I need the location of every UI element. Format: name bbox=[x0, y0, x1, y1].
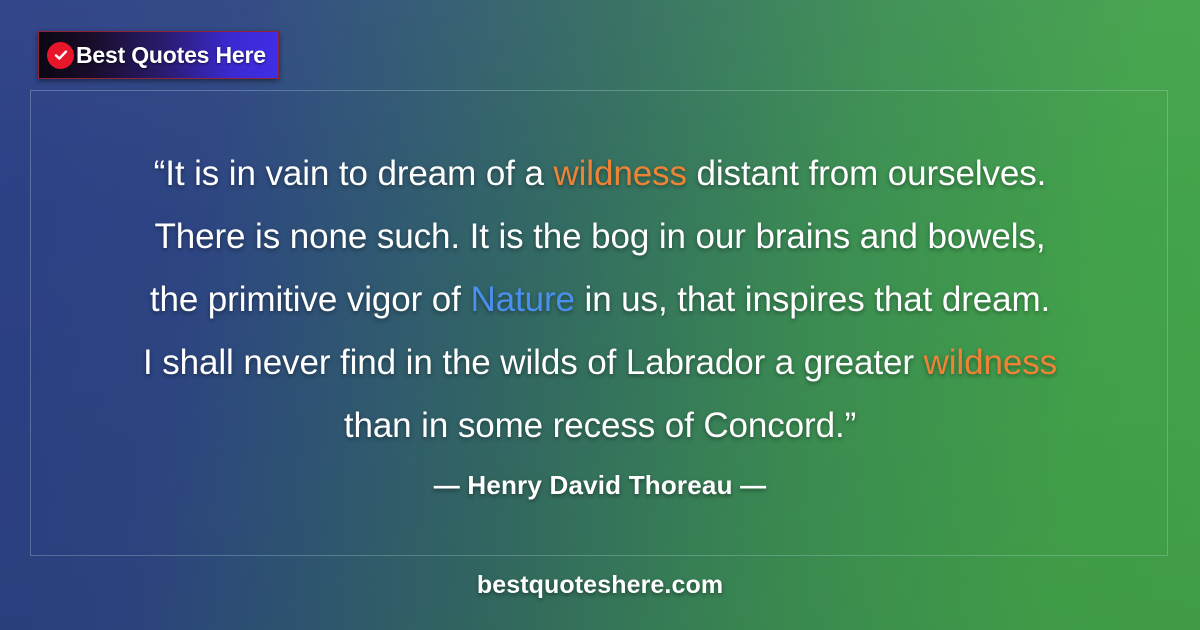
quote-line: the primitive vigor of Nature in us, tha… bbox=[0, 268, 1200, 331]
quote-highlight-wildness: wildness bbox=[553, 154, 686, 193]
quote-attribution: — Henry David Thoreau — bbox=[0, 470, 1200, 501]
quote-segment: “It is in vain to dream of a bbox=[154, 154, 554, 193]
quote-line: There is none such. It is the bog in our… bbox=[0, 205, 1200, 268]
quote-highlight-nature: Nature bbox=[470, 280, 574, 319]
quote-line: “It is in vain to dream of a wildness di… bbox=[0, 142, 1200, 205]
quote-segment: There is none such. It is the bog in our… bbox=[154, 217, 1045, 256]
brand-badge-label: Best Quotes Here bbox=[76, 42, 266, 69]
quote-card: Best Quotes Here “It is in vain to dream… bbox=[0, 0, 1200, 630]
quote-segment: I shall never find in the wilds of Labra… bbox=[143, 343, 924, 382]
quote-segment: distant from ourselves. bbox=[687, 154, 1046, 193]
quote-segment: in us, that inspires that dream. bbox=[575, 280, 1050, 319]
quote-line: than in some recess of Concord.” bbox=[0, 394, 1200, 457]
quote-segment: the primitive vigor of bbox=[150, 280, 471, 319]
quote-text: “It is in vain to dream of a wildness di… bbox=[0, 142, 1200, 457]
quote-line: I shall never find in the wilds of Labra… bbox=[0, 331, 1200, 394]
footer-website: bestquoteshere.com bbox=[0, 571, 1200, 600]
quote-segment: than in some recess of Concord.” bbox=[344, 406, 856, 445]
check-circle-icon bbox=[47, 42, 74, 69]
brand-badge[interactable]: Best Quotes Here bbox=[38, 31, 279, 79]
quote-highlight-wildness: wildness bbox=[924, 343, 1057, 382]
